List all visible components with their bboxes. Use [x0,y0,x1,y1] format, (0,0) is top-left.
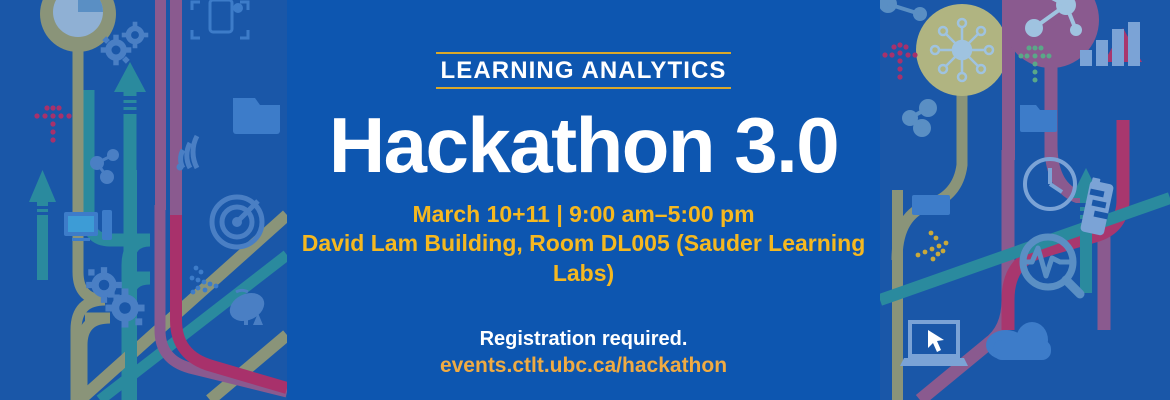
decorative-panel-left [0,0,287,400]
registration-note: Registration required. [440,326,727,352]
eyebrow-block: LEARNING ANALYTICS [436,52,730,89]
hub-node-icon [931,19,993,81]
wifi-dot-icon [177,164,184,171]
target-icon [212,197,262,247]
teal-band-left [125,170,137,400]
dotted-cross-icon-magenta [882,42,917,79]
screen-icon [912,195,950,215]
wifi-icon [181,136,197,168]
tablet-gear-icon [233,3,243,13]
top-nodes-icon [880,0,927,21]
dotted-arrow-icon-right [916,231,949,262]
right-decor-graphic [880,0,1170,400]
left-decor-graphic [0,0,287,400]
laptop-cursor-icon [900,322,968,366]
eyebrow-text: LEARNING ANALYTICS [436,59,730,83]
decorative-panel-right [880,0,1170,400]
share-nodes-icon-right [902,99,937,137]
page-title: Hackathon 3.0 [329,106,838,184]
registration-url[interactable]: events.ctlt.ubc.ca/hackathon [440,352,727,379]
folder-icon [233,98,280,134]
purple-band-left [170,0,182,215]
event-details: March 10+11 | 9:00 am–5:00 pm David Lam … [287,200,880,288]
event-location: David Lam Building, Room DL005 (Sauder L… [287,229,880,288]
event-datetime: March 10+11 | 9:00 am–5:00 pm [287,200,880,229]
registration-block: Registration required. events.ctlt.ubc.c… [440,326,727,379]
event-banner: LEARNING ANALYTICS Hackathon 3.0 March 1… [0,0,1170,400]
banner-content: LEARNING ANALYTICS Hackathon 3.0 March 1… [287,0,880,400]
dotted-cross-icon [34,105,71,142]
teal-small-arrow-icon [29,170,56,280]
